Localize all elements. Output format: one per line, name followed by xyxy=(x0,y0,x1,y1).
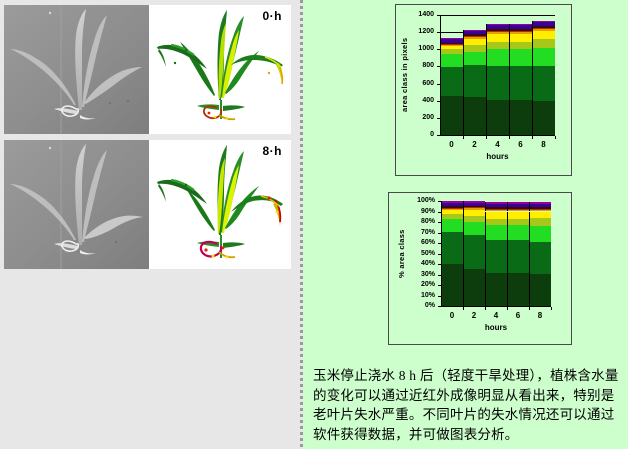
bar-segment-class-6 xyxy=(440,45,463,47)
bar-segment-class-7 xyxy=(440,44,463,45)
bar-segment-class-8 xyxy=(463,34,486,36)
chart-top-inner-ytick: 400 xyxy=(422,97,434,104)
bar-segment-class-3 xyxy=(532,48,555,66)
bar-segment-class-4 xyxy=(485,219,507,225)
bar-segment-class-1 xyxy=(532,101,555,135)
bar-segment-class-2 xyxy=(440,67,463,95)
bar-segment-class-5 xyxy=(485,212,507,219)
bar-segment-class-2 xyxy=(532,66,555,101)
bar-segment-class-6 xyxy=(486,32,509,34)
bar-segment-class-8 xyxy=(485,207,507,208)
figure-caption: 玉米停止浇水 8 h 后（轻度干旱处理），植株含水量的变化可以通过近红外成像明显… xyxy=(313,366,623,444)
bar-segment-class-4 xyxy=(486,42,509,49)
bar-segment-class-5 xyxy=(509,34,532,42)
page-root: 0·h xyxy=(0,0,628,449)
bar-segment-class-1 xyxy=(440,96,463,135)
chart-bottom-inner-xtickmark xyxy=(507,307,508,310)
chart-top-inner-xtickmark xyxy=(532,136,533,139)
bar-segment-class-5 xyxy=(529,212,551,219)
bar-segment-class-4 xyxy=(463,216,485,222)
chart-area-class-pixels: area class in pixels02004006008001000120… xyxy=(395,4,572,176)
bar-segment-class-3 xyxy=(463,222,485,235)
chart-bottom-inner-ytick: 100% xyxy=(417,197,435,204)
bar-segment-class-5 xyxy=(441,210,463,213)
bar-6h xyxy=(507,201,529,306)
chart-top-inner-ytick: 800 xyxy=(422,62,434,69)
image-row-0h: 0·h xyxy=(4,5,291,134)
bar-segment-class-6 xyxy=(441,209,463,211)
chart-area-class-percent: % area class0%10%20%30%40%50%60%70%80%90… xyxy=(388,192,572,345)
analysis-panel: area class in pixels02004006008001000120… xyxy=(303,0,628,449)
chart-top-inner-xtickmark xyxy=(463,136,464,139)
bar-segment-class-9 xyxy=(507,204,529,207)
image-panel: 0·h xyxy=(0,0,300,449)
chart-bottom-inner-ytick: 10% xyxy=(421,292,435,299)
bar-segment-class-6 xyxy=(463,37,486,39)
bar-segment-class-9 xyxy=(463,30,486,34)
bar-segment-class-9 xyxy=(529,204,551,207)
xtick-2: 2 xyxy=(463,140,486,149)
bar-segment-class-10 xyxy=(463,201,485,203)
bar-segment-class-6 xyxy=(509,32,532,34)
xtick-4: 4 xyxy=(485,311,507,320)
bar-segment-class-7 xyxy=(532,28,555,29)
bar-segment-class-9 xyxy=(441,203,463,206)
bar-segment-class-9 xyxy=(440,39,463,43)
bar-segment-class-6 xyxy=(485,210,507,212)
bar-segment-class-4 xyxy=(463,45,486,51)
bar-segment-class-1 xyxy=(441,264,463,306)
bar-segment-class-4 xyxy=(532,39,555,48)
bar-segment-class-10 xyxy=(507,202,529,204)
bar-segment-class-3 xyxy=(507,225,529,240)
chart-bottom-inner-ytick: 70% xyxy=(421,229,435,236)
chart-bottom-inner-xaxis xyxy=(441,306,551,307)
chart-bottom-inner-ytick: 30% xyxy=(421,271,435,278)
thermal-grayscale-image-8h xyxy=(4,140,149,269)
bar-4h xyxy=(485,201,507,306)
bar-segment-class-4 xyxy=(440,49,463,54)
bar-segment-class-2 xyxy=(509,66,532,100)
chart-bottom-inner-xtickmark xyxy=(529,307,530,310)
bar-segment-class-3 xyxy=(509,49,532,66)
bar-segment-class-2 xyxy=(463,235,485,269)
bar-segment-class-4 xyxy=(509,42,532,49)
time-label-0h: 0·h xyxy=(263,9,283,23)
bar-segment-class-10 xyxy=(441,201,463,203)
bar-segment-class-9 xyxy=(463,203,485,206)
bar-segment-class-8 xyxy=(529,207,551,208)
bar-segment-class-8 xyxy=(441,206,463,207)
bar-segment-class-5 xyxy=(463,39,486,45)
bar-segment-class-2 xyxy=(507,240,529,273)
bar-segment-class-7 xyxy=(529,209,551,210)
bar-0h xyxy=(441,201,463,306)
bar-segment-class-5 xyxy=(532,31,555,38)
bar-segment-class-10 xyxy=(485,202,507,204)
chart-bottom-inner-ytick: 20% xyxy=(421,281,435,288)
bar-segment-class-1 xyxy=(463,269,485,306)
bar-segment-class-9 xyxy=(532,21,555,26)
bar-segment-class-1 xyxy=(509,100,532,135)
bar-2h xyxy=(463,201,485,306)
bar-8h xyxy=(529,201,551,306)
bar-segment-class-9 xyxy=(509,24,532,29)
bar-segment-class-6 xyxy=(529,210,551,212)
chart-bottom-inner-xtickmark xyxy=(463,307,464,310)
chart-top-inner-xaxis xyxy=(440,135,555,136)
bar-segment-class-8 xyxy=(486,29,509,31)
chart-bottom-inner-ytick: 50% xyxy=(421,250,435,257)
xtick-4: 4 xyxy=(486,140,509,149)
bar-6h xyxy=(509,15,532,135)
chart-bottom-inner-ytick: 0% xyxy=(425,302,435,309)
bar-segment-class-5 xyxy=(440,46,463,49)
chart-bottom-inner-ytick: 80% xyxy=(421,218,435,225)
xtick-8: 8 xyxy=(529,311,551,320)
bar-segment-class-8 xyxy=(507,207,529,208)
bar-segment-class-7 xyxy=(463,207,485,208)
chart-top-inner-ytick: 200 xyxy=(422,114,434,121)
chart-top-inner-ylabel: area class in pixels xyxy=(400,15,409,135)
bar-segment-class-7 xyxy=(485,209,507,210)
bar-segment-class-1 xyxy=(485,273,507,306)
chart-top-inner-xtickmark xyxy=(509,136,510,139)
bar-segment-class-1 xyxy=(463,97,486,135)
xtick-0: 0 xyxy=(440,140,463,149)
classified-color-image-8h: 8·h xyxy=(149,140,291,269)
time-label-8h: 8·h xyxy=(263,144,283,158)
bar-segment-class-3 xyxy=(441,219,463,232)
bar-segment-class-8 xyxy=(463,206,485,207)
bar-segment-class-7 xyxy=(486,31,509,32)
bar-segment-class-2 xyxy=(529,242,551,274)
chart-top-inner-xtickmark xyxy=(555,136,556,139)
xtick-8: 8 xyxy=(532,140,555,149)
bar-4h xyxy=(486,15,509,135)
bar-segment-class-2 xyxy=(486,66,509,100)
bar-segment-class-5 xyxy=(463,210,485,216)
bar-segment-class-3 xyxy=(486,49,509,65)
xtick-6: 6 xyxy=(509,140,532,149)
bar-segment-class-4 xyxy=(529,218,551,225)
bar-segment-class-3 xyxy=(485,225,507,240)
bar-segment-class-8 xyxy=(440,43,463,44)
bar-segment-class-1 xyxy=(507,273,529,306)
chart-bottom-inner-ytick: 40% xyxy=(421,260,435,267)
bar-segment-class-8 xyxy=(532,26,555,28)
bar-8h xyxy=(532,15,555,135)
xtick-2: 2 xyxy=(463,311,485,320)
chart-top-inner-xlabel: hours xyxy=(440,152,555,161)
bar-segment-class-1 xyxy=(529,274,551,306)
chart-bottom-inner-ylabel: % area class xyxy=(397,201,406,306)
bar-segment-class-7 xyxy=(507,209,529,210)
bar-segment-class-2 xyxy=(485,240,507,273)
chart-bottom-inner-xlabel: hours xyxy=(441,323,551,332)
bar-segment-class-5 xyxy=(507,212,529,219)
xtick-6: 6 xyxy=(507,311,529,320)
bar-segment-class-2 xyxy=(441,232,463,264)
image-row-8h: 8·h xyxy=(4,140,291,269)
chart-top-inner-ytick: 600 xyxy=(422,80,434,87)
classified-color-image-0h: 0·h xyxy=(149,5,291,134)
bar-segment-class-5 xyxy=(486,34,509,42)
chart-bottom-inner-xtickmark xyxy=(551,307,552,310)
bar-segment-class-7 xyxy=(441,208,463,209)
bar-2h xyxy=(463,15,486,135)
chart-top-inner-ytick: 1000 xyxy=(418,45,434,52)
bar-segment-class-10 xyxy=(529,202,551,204)
chart-top-inner-xtickmark xyxy=(486,136,487,139)
bar-segment-class-9 xyxy=(485,204,507,207)
bar-segment-class-7 xyxy=(463,36,486,37)
bar-0h xyxy=(440,15,463,135)
chart-top-inner-ytick: 1200 xyxy=(418,28,434,35)
xtick-0: 0 xyxy=(441,311,463,320)
chart-bottom-inner-ytick: 60% xyxy=(421,239,435,246)
bar-segment-class-3 xyxy=(529,226,551,242)
bar-segment-class-4 xyxy=(507,219,529,225)
bar-segment-class-3 xyxy=(440,54,463,67)
bar-segment-class-6 xyxy=(507,210,529,212)
bar-segment-class-2 xyxy=(463,65,486,98)
chart-bottom-inner-ytick: 90% xyxy=(421,208,435,215)
chart-bottom-inner-xtickmark xyxy=(485,307,486,310)
bar-segment-class-3 xyxy=(463,52,486,65)
chart-top-inner-ytick: 1400 xyxy=(418,11,434,18)
bar-segment-class-4 xyxy=(441,214,463,219)
bar-segment-class-1 xyxy=(486,100,509,135)
bar-segment-class-6 xyxy=(463,208,485,210)
chart-top-inner-ytick: 0 xyxy=(430,131,434,138)
thermal-grayscale-image-0h xyxy=(4,5,149,134)
bar-segment-class-9 xyxy=(486,24,509,29)
bar-segment-class-6 xyxy=(532,29,555,31)
bar-segment-class-8 xyxy=(509,29,532,31)
bar-segment-class-7 xyxy=(509,31,532,32)
